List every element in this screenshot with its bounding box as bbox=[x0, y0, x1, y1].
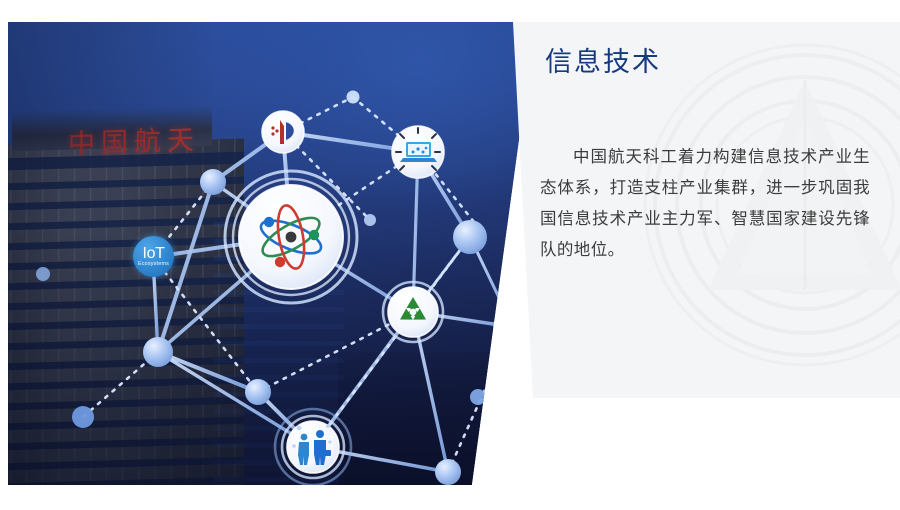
company-logo-node bbox=[262, 111, 304, 153]
slide-root: 中国航天 bbox=[0, 0, 900, 510]
network-graph-overlay bbox=[8, 22, 535, 485]
text-content-panel: 信息技术 中国航天科工着力构建信息技术产业生态体系，打造支柱产业集群，进一步巩固… bbox=[505, 22, 900, 398]
body-paragraph: 中国航天科工着力构建信息技术产业生态体系，打造支柱产业集群，进一步巩固我国信息技… bbox=[540, 142, 870, 266]
distant-tower-spire bbox=[505, 340, 527, 460]
atom-node bbox=[225, 171, 357, 303]
recycle-node bbox=[383, 282, 443, 342]
people-handshake-node bbox=[275, 409, 351, 485]
page-title: 信息技术 bbox=[545, 40, 661, 79]
laptop-chart-node bbox=[392, 126, 444, 178]
night-city-network-photo: 中国航天 bbox=[8, 22, 535, 485]
iot-ecosystems-badge: IoT Ecosystems bbox=[133, 236, 174, 277]
iot-badge-sub-label: Ecosystems bbox=[138, 261, 169, 268]
iot-badge-main-label: IoT bbox=[143, 246, 165, 261]
